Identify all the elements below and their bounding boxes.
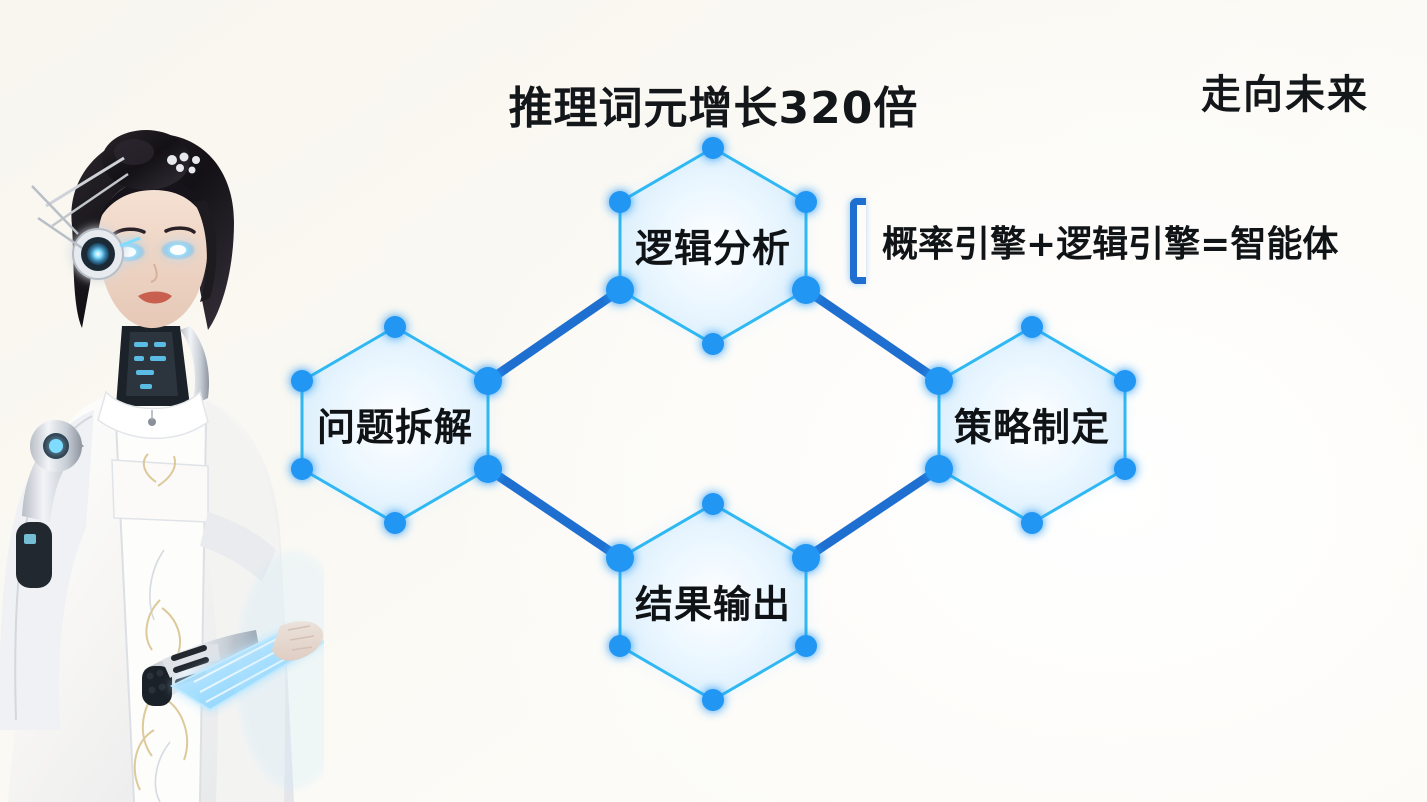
node-dot (702, 137, 724, 159)
connector-decompose-logic (488, 290, 620, 381)
node-dot (795, 635, 817, 657)
node-dot-junction (474, 367, 502, 395)
hexagon-output[interactable] (620, 504, 806, 700)
node-dot (291, 458, 313, 480)
node-dot (795, 191, 817, 213)
node-dot-junction (792, 276, 820, 304)
node-dot-junction (925, 367, 953, 395)
node-dot (1021, 316, 1043, 338)
node-dot (291, 370, 313, 392)
connector-output-strategy (806, 469, 939, 558)
hexagon-logic[interactable] (620, 148, 806, 344)
node-dot (609, 635, 631, 657)
hexagon-strategy[interactable] (939, 327, 1125, 523)
node-dot-junction (606, 276, 634, 304)
connector-decompose-output (488, 469, 620, 558)
node-dot (702, 689, 724, 711)
node-dot (702, 493, 724, 515)
connector-logic-strategy (806, 290, 939, 381)
node-dot (1114, 458, 1136, 480)
node-dot-junction (474, 455, 502, 483)
node-dot (384, 512, 406, 534)
annotation-callout: 概率引擎+逻辑引擎=智能体 (850, 198, 1338, 284)
node-dot-junction (792, 544, 820, 572)
slide-canvas: 逻辑分析 问题拆解 策略制定 结果输出 推理词元增长320倍 走向未来 概率引擎… (0, 0, 1427, 802)
node-dot (702, 333, 724, 355)
node-dot (609, 191, 631, 213)
node-dot-junction (925, 455, 953, 483)
node-dot (384, 316, 406, 338)
hexagon-decompose[interactable] (302, 327, 488, 523)
left-bracket-icon (850, 198, 866, 284)
corner-tag: 走向未来 (1201, 62, 1369, 120)
annotation-text: 概率引擎+逻辑引擎=智能体 (882, 215, 1338, 267)
node-dot-junction (606, 544, 634, 572)
node-dot (1021, 512, 1043, 534)
node-dot (1114, 370, 1136, 392)
